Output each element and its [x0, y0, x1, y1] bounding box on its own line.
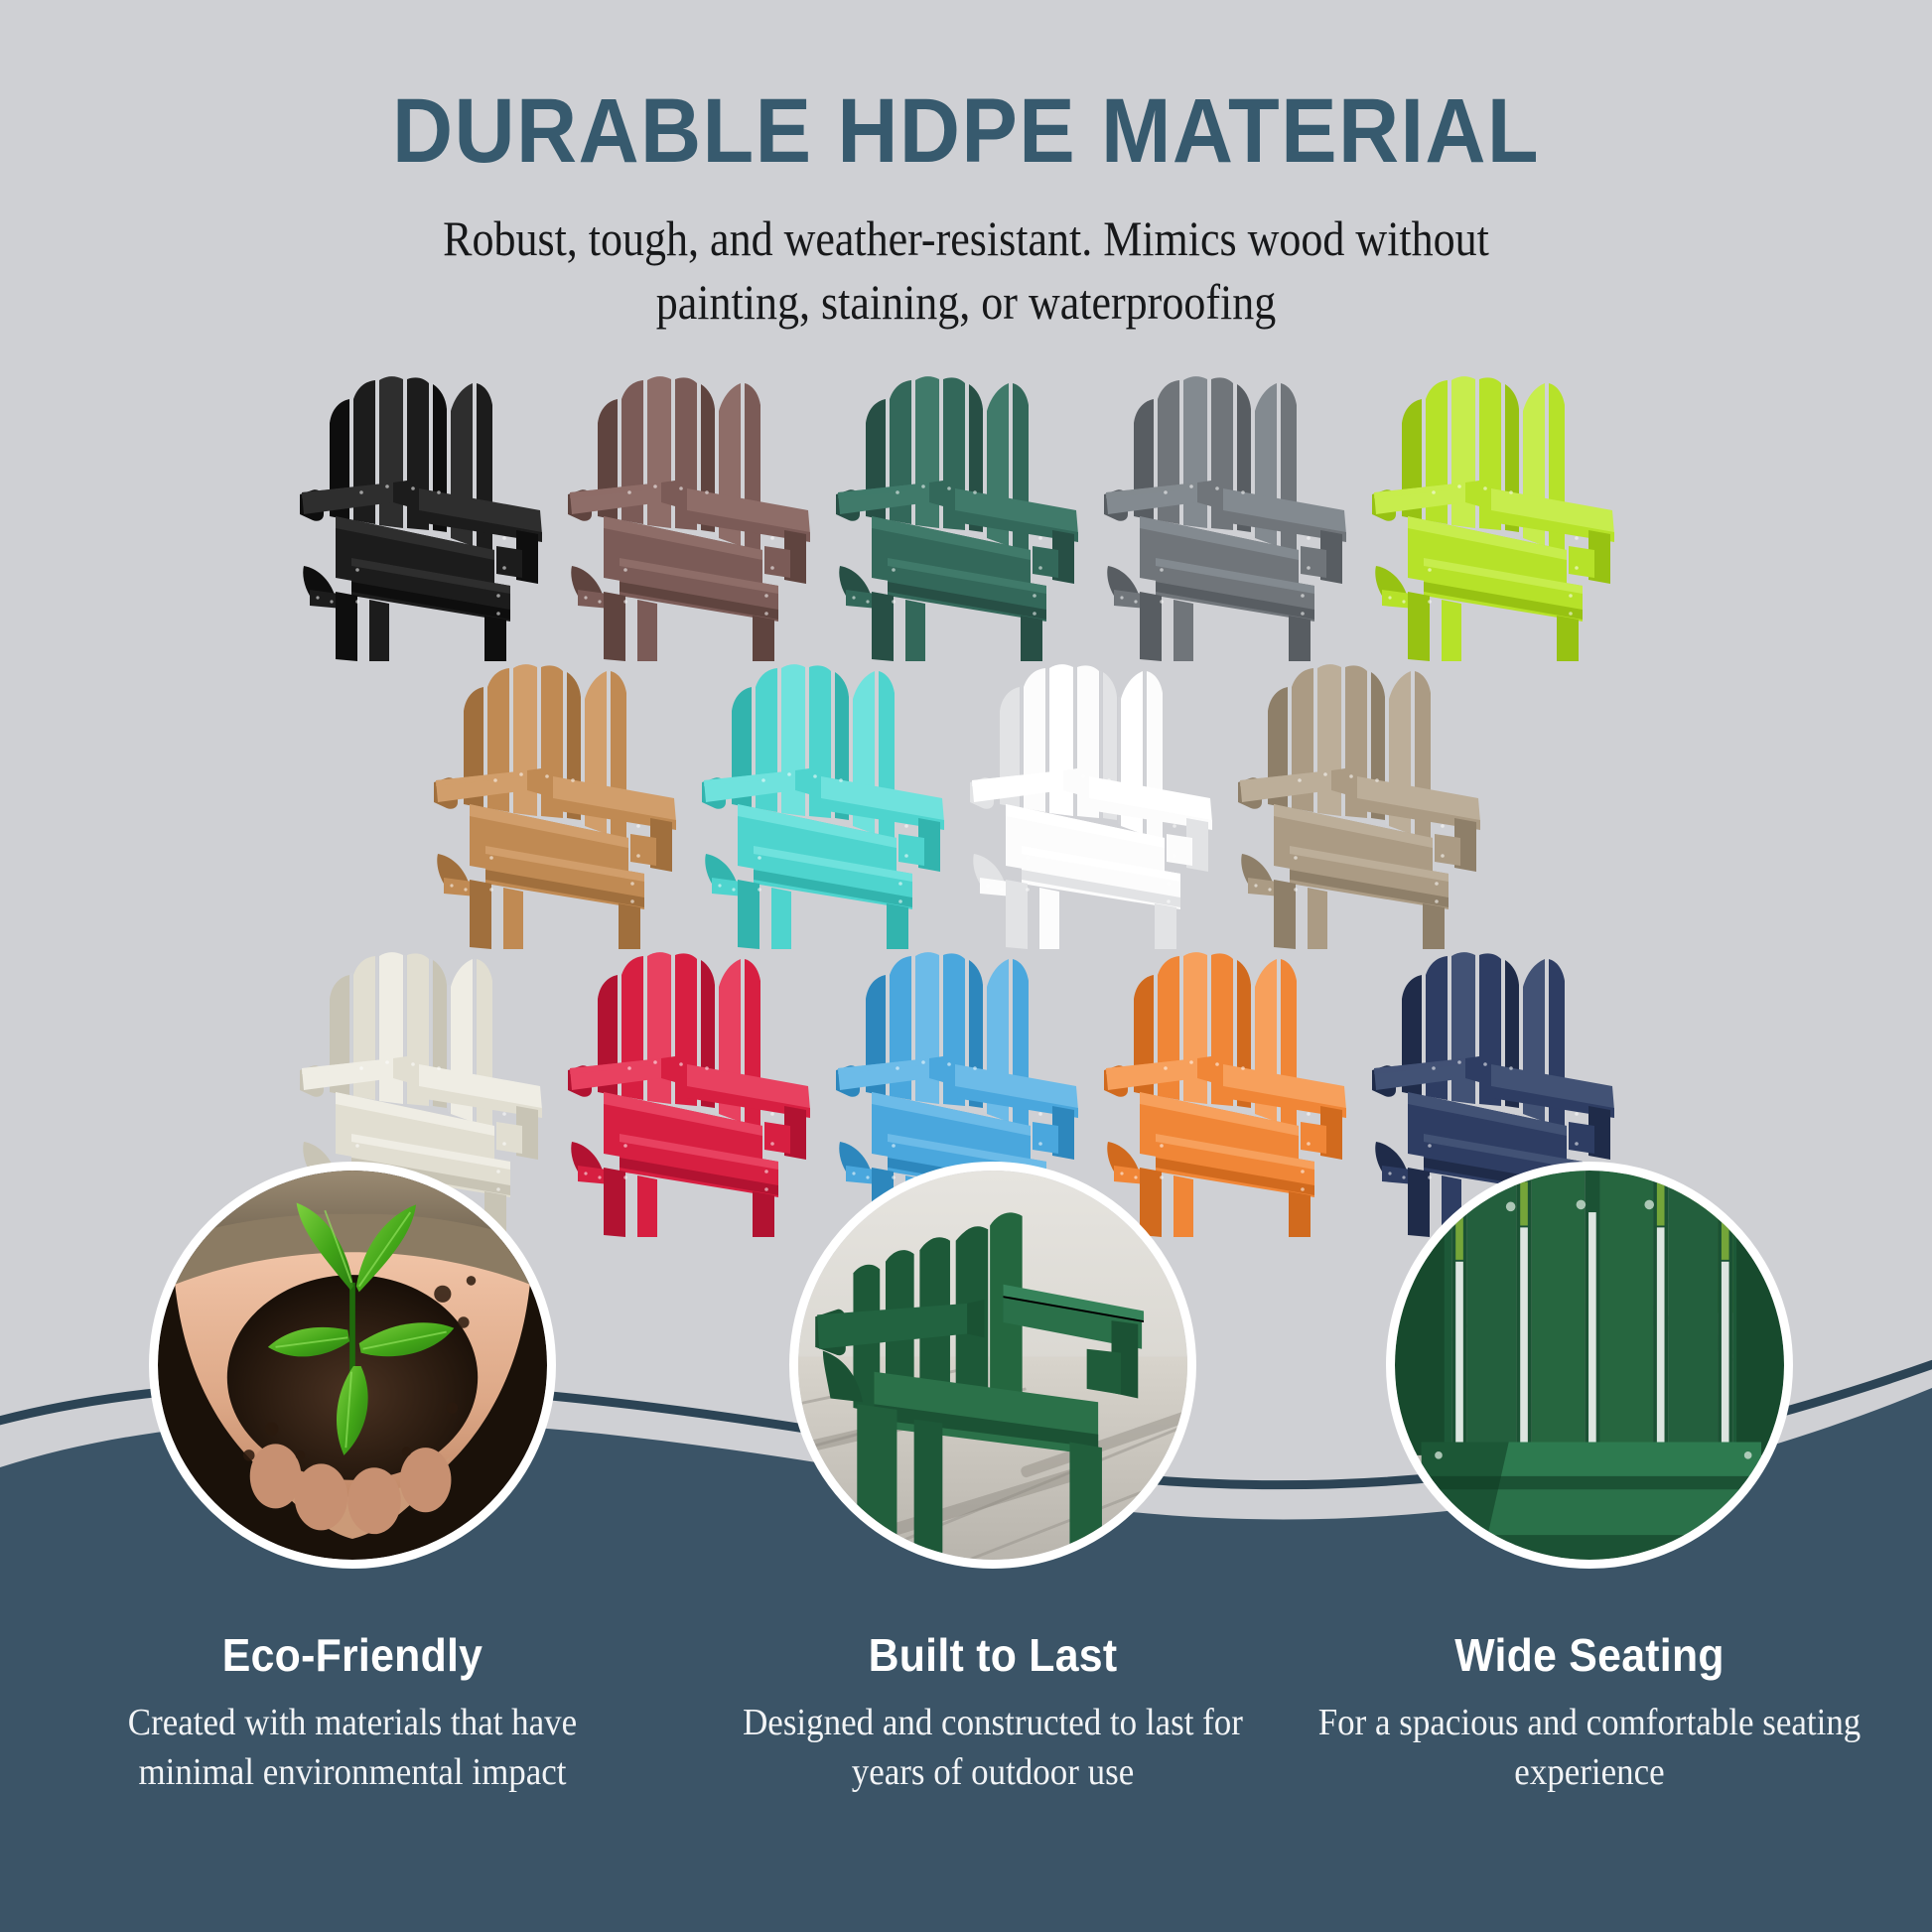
feature-description: Created with materials that have minimal…: [69, 1698, 635, 1797]
feature-description: For a spacious and comfortable seating e…: [1307, 1698, 1872, 1797]
chair-gray[interactable]: [1100, 371, 1368, 661]
page-title: DURABLE HDPE MATERIAL: [77, 85, 1855, 177]
chair-image-khaki: [1234, 659, 1502, 949]
feature-text-built-to-last: Built to Last Designed and constructed t…: [685, 1628, 1301, 1797]
header-block: DURABLE HDPE MATERIAL Robust, tough, and…: [0, 85, 1932, 334]
chair-image-teak: [430, 659, 698, 949]
photo-green-chair-patio: [798, 1171, 1187, 1560]
chair-row-1: [0, 371, 1932, 661]
feature-text-eco-friendly: Eco-Friendly Created with materials that…: [45, 1628, 660, 1797]
feature-heading: Wide Seating: [1304, 1628, 1876, 1682]
feature-description: Designed and constructed to last for yea…: [710, 1698, 1276, 1797]
feature-photo-built-to-last: [789, 1162, 1196, 1569]
chair-dark-green[interactable]: [832, 371, 1100, 661]
chair-image-red: [564, 947, 832, 1237]
chair-image-white: [966, 659, 1234, 949]
feature-text-wide-seating: Wide Seating For a spacious and comforta…: [1282, 1628, 1897, 1797]
chair-mahogany[interactable]: [564, 371, 832, 661]
chair-image-mahogany: [564, 371, 832, 661]
chair-row-2: [0, 659, 1932, 949]
chair-image-dark-green: [832, 371, 1100, 661]
chair-lime-green[interactable]: [1368, 371, 1636, 661]
photo-green-chair-wide-seat: [1395, 1171, 1784, 1560]
page-subtitle: Robust, tough, and weather-resistant. Mi…: [372, 207, 1561, 334]
chair-teak[interactable]: [430, 659, 698, 949]
chair-red[interactable]: [564, 947, 832, 1237]
feature-heading: Built to Last: [707, 1628, 1280, 1682]
chair-turquoise[interactable]: [698, 659, 966, 949]
chair-image-gray: [1100, 371, 1368, 661]
chair-black[interactable]: [296, 371, 564, 661]
chair-white[interactable]: [966, 659, 1234, 949]
feature-heading: Eco-Friendly: [67, 1628, 639, 1682]
chair-image-turquoise: [698, 659, 966, 949]
chair-image-lime-green: [1368, 371, 1636, 661]
photo-hands-seedling: [158, 1171, 547, 1560]
chair-khaki[interactable]: [1234, 659, 1502, 949]
feature-photo-eco-friendly: [149, 1162, 556, 1569]
infographic-canvas: DURABLE HDPE MATERIAL Robust, tough, and…: [0, 0, 1932, 1932]
feature-photo-wide-seating: [1386, 1162, 1793, 1569]
chair-image-black: [296, 371, 564, 661]
